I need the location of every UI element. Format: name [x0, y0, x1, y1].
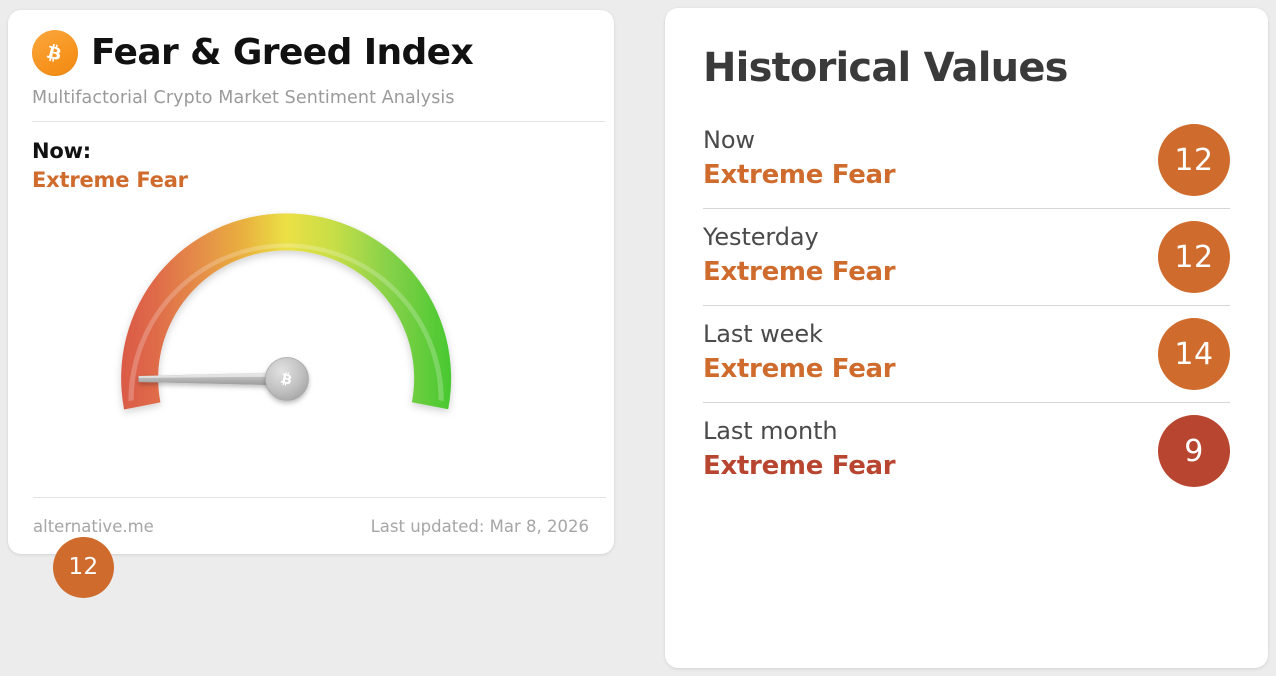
title-row: Fear & Greed Index: [32, 30, 473, 76]
historical-values-list: Now Extreme Fear 12 Yesterday Extreme Fe…: [703, 112, 1230, 499]
historical-values-title: Historical Values: [703, 46, 1230, 90]
gauge-value-badge: 12: [53, 537, 114, 598]
now-label: Now:: [32, 138, 590, 165]
history-row-last-month[interactable]: Last month Extreme Fear 9: [703, 403, 1230, 499]
header-divider: [32, 121, 605, 122]
history-period-label: Now: [703, 126, 1230, 154]
last-updated-label: Last updated: Mar 8, 2026: [371, 517, 589, 536]
historical-values-inner: Historical Values Now Extreme Fear 12 Ye…: [665, 8, 1268, 499]
page-subtitle: Multifactorial Crypto Market Sentiment A…: [32, 88, 455, 108]
history-row-now[interactable]: Now Extreme Fear 12: [703, 112, 1230, 209]
history-value-badge: 9: [1158, 415, 1230, 487]
gauge-visualization: 12: [8, 188, 614, 488]
gauge-card-header: Fear & Greed Index Multifactorial Crypto…: [8, 10, 614, 122]
history-classification-label: Extreme Fear: [703, 354, 1230, 384]
history-classification-label: Extreme Fear: [703, 160, 1230, 190]
history-period-label: Last week: [703, 320, 1230, 348]
history-value-badge: 12: [1158, 221, 1230, 293]
history-classification-label: Extreme Fear: [703, 451, 1230, 481]
history-value-badge: 14: [1158, 318, 1230, 390]
historical-values-card: Historical Values Now Extreme Fear 12 Ye…: [665, 8, 1268, 668]
history-classification-label: Extreme Fear: [703, 257, 1230, 287]
history-row-last-week[interactable]: Last week Extreme Fear 14: [703, 306, 1230, 403]
bitcoin-icon: [32, 30, 78, 76]
history-period-label: Last month: [703, 417, 1230, 445]
history-period-label: Yesterday: [703, 223, 1230, 251]
source-label[interactable]: alternative.me: [33, 517, 154, 536]
fear-greed-gauge-card: Fear & Greed Index Multifactorial Crypto…: [8, 10, 614, 554]
page-title: Fear & Greed Index: [91, 34, 473, 72]
gauge-card-footer: alternative.me Last updated: Mar 8, 2026: [33, 517, 589, 536]
history-value-badge: 12: [1158, 124, 1230, 196]
gauge-arc: [8, 188, 614, 488]
now-block: Now: Extreme Fear: [8, 122, 614, 194]
footer-divider: [33, 497, 606, 498]
history-row-yesterday[interactable]: Yesterday Extreme Fear 12: [703, 209, 1230, 306]
